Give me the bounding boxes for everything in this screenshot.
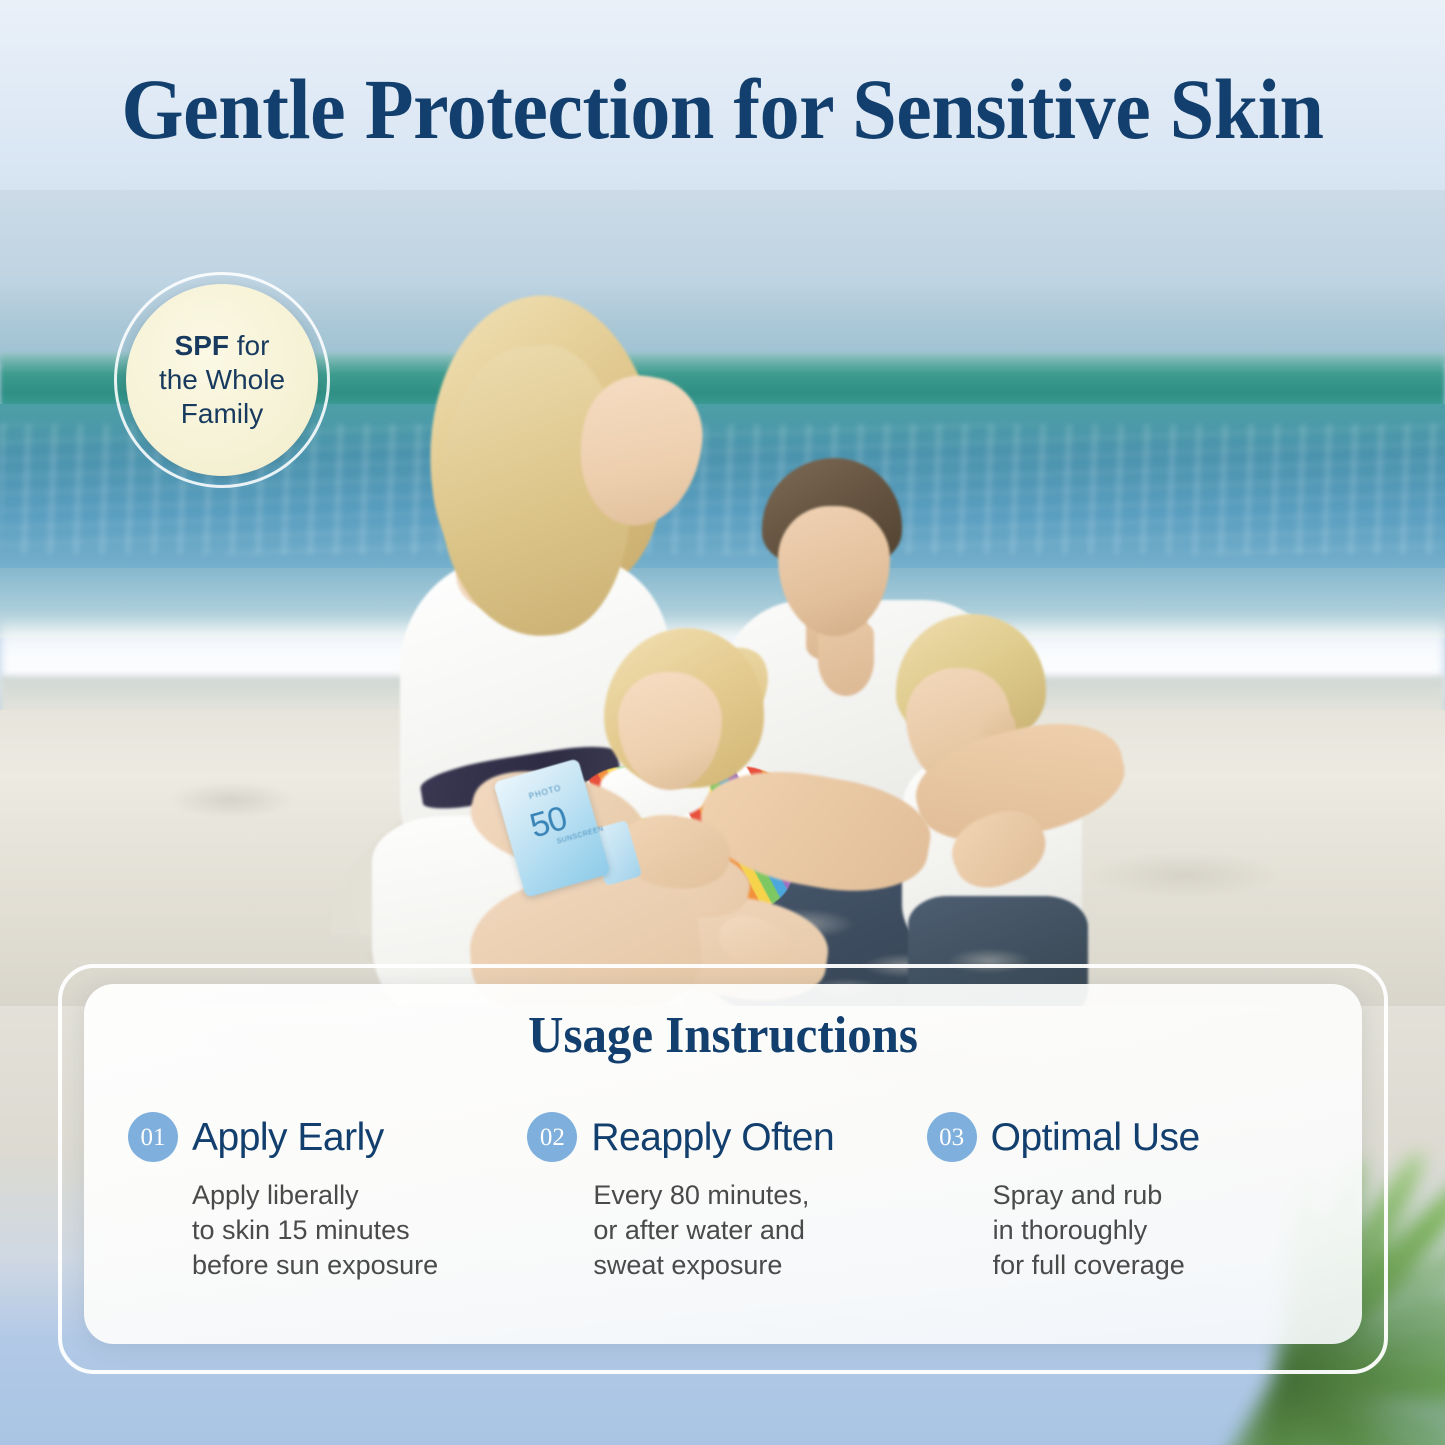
spf-badge-line1-rest: for xyxy=(229,330,269,361)
usage-step-number-badge: 02 xyxy=(527,1112,577,1162)
usage-step-header: 02Reapply Often xyxy=(527,1112,922,1162)
usage-step-01: 01Apply EarlyApply liberally to skin 15 … xyxy=(124,1112,523,1283)
usage-instructions-card: Usage Instructions 01Apply EarlyApply li… xyxy=(84,984,1362,1344)
usage-step-body: Spray and rub in thoroughly for full cov… xyxy=(993,1178,1322,1283)
usage-step-02: 02Reapply OftenEvery 80 minutes, or afte… xyxy=(523,1112,922,1283)
usage-step-header: 01Apply Early xyxy=(128,1112,523,1162)
usage-step-header: 03Optimal Use xyxy=(927,1112,1322,1162)
usage-step-title: Optimal Use xyxy=(991,1118,1200,1157)
poster-root: PHOTO 50 SUNSCREEN Gentle Protection for… xyxy=(0,0,1445,1445)
usage-step-number-badge: 03 xyxy=(927,1112,977,1162)
usage-step-title: Reapply Often xyxy=(591,1118,834,1157)
spf-badge: SPF for the Whole Family xyxy=(114,272,330,488)
spf-badge-line3: Family xyxy=(181,398,263,429)
spf-badge-strong: SPF xyxy=(175,330,229,361)
usage-instructions-title: Usage Instructions xyxy=(122,1010,1323,1062)
usage-step-body: Apply liberally to skin 15 minutes befor… xyxy=(192,1178,523,1283)
usage-steps-list: 01Apply EarlyApply liberally to skin 15 … xyxy=(84,1112,1362,1283)
usage-step-number-badge: 01 xyxy=(128,1112,178,1162)
spf-badge-line2: the Whole xyxy=(159,364,285,395)
usage-step-title: Apply Early xyxy=(192,1118,384,1157)
page-title: Gentle Protection for Sensitive Skin xyxy=(51,66,1395,152)
header-band: Gentle Protection for Sensitive Skin xyxy=(0,0,1445,190)
spf-badge-text: SPF for the Whole Family xyxy=(126,284,318,476)
usage-step-03: 03Optimal UseSpray and rub in thoroughly… xyxy=(923,1112,1322,1283)
usage-step-body: Every 80 minutes, or after water and swe… xyxy=(593,1178,922,1283)
